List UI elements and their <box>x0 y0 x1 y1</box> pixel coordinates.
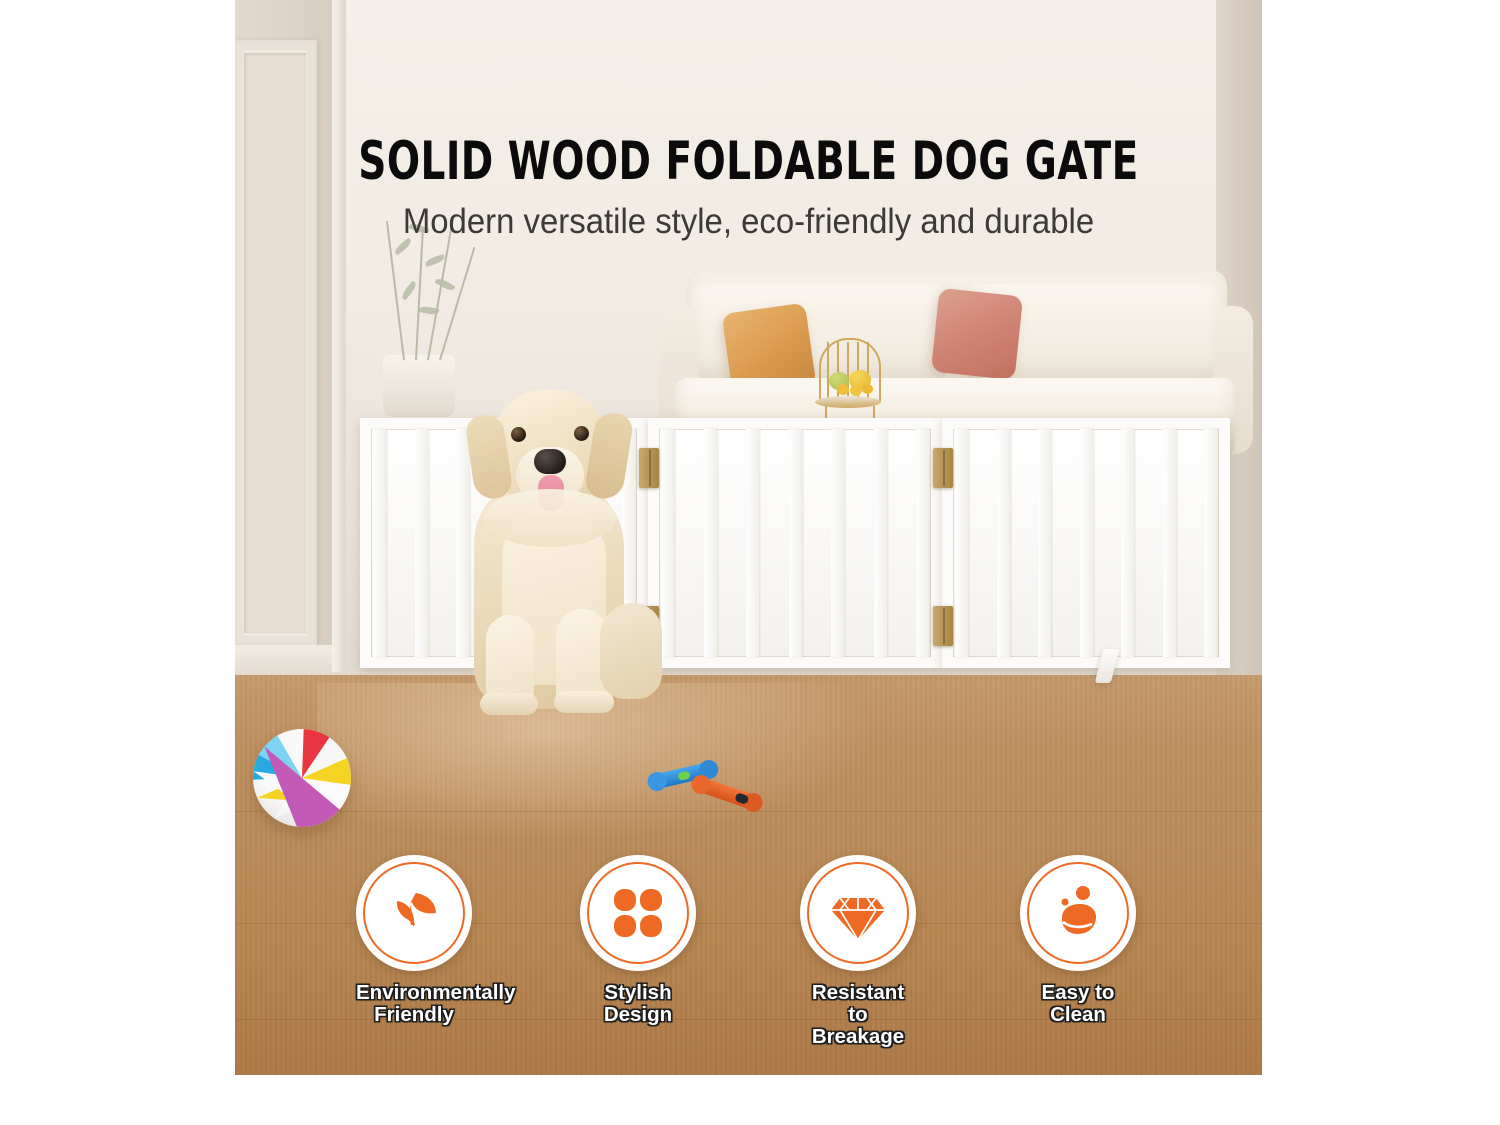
gate-panel-center <box>648 418 942 668</box>
dog-paw-right <box>554 691 614 713</box>
sponge-icon <box>1049 884 1107 942</box>
gate-panel-right <box>942 418 1230 668</box>
dog-eye-right <box>574 426 589 441</box>
page-title: SOLID WOOD FOLDABLE DOG GATE <box>327 131 1169 192</box>
dog-eye-left <box>511 427 526 442</box>
clover-icon <box>610 885 666 941</box>
badge-circle <box>800 855 916 971</box>
leaf-icon <box>384 883 444 943</box>
badge-label-line2: Friendly <box>356 1004 472 1026</box>
badge-circle <box>580 855 696 971</box>
birdcage-fruit-stand <box>819 338 877 426</box>
feature-badge[interactable]: Environmentally Friendly <box>356 855 472 1026</box>
throw-pillow-rose <box>931 288 1023 380</box>
beach-ball <box>253 729 351 827</box>
plant-pot <box>383 355 455 417</box>
golden-retriever-dog <box>450 385 665 730</box>
dog-ruff <box>484 489 616 547</box>
page-subtitle: Modern versatile style, eco-friendly and… <box>266 202 1231 242</box>
diamond-icon <box>829 884 887 942</box>
feature-badge[interactable]: Resistant to Breakage <box>800 855 916 1048</box>
gate-hinge-bottom-right <box>933 606 953 646</box>
feature-badge-row: Environmentally Friendly Stylish Design <box>235 855 1262 1055</box>
badge-label-line1: Easy to Clean <box>1020 982 1136 1026</box>
badge-circle <box>1020 855 1136 971</box>
dog-paw-left <box>480 693 538 715</box>
door-jamb <box>332 0 346 672</box>
baseboard <box>235 645 335 675</box>
wall-panel-inset <box>244 53 306 633</box>
wall-panel-moulding <box>235 40 317 646</box>
feature-badge[interactable]: Easy to Clean <box>1020 855 1136 1026</box>
dog-nose <box>534 449 566 474</box>
badge-label-line1: Resistant to <box>800 982 916 1026</box>
badge-circle <box>356 855 472 971</box>
left-wall <box>235 0 335 753</box>
badge-label-line1: Stylish Design <box>580 982 696 1026</box>
feature-badge[interactable]: Stylish Design <box>580 855 696 1026</box>
gate-hinge-top-right <box>933 448 953 488</box>
dog-haunch <box>600 603 662 699</box>
badge-label-line2: Breakage <box>800 1026 916 1048</box>
lifestyle-photo: SOLID WOOD FOLDABLE DOG GATE Modern vers… <box>235 0 1262 1075</box>
badge-label-line1: Environmentally <box>356 982 472 1004</box>
product-marketing-image: SOLID WOOD FOLDABLE DOG GATE Modern vers… <box>0 0 1500 1125</box>
